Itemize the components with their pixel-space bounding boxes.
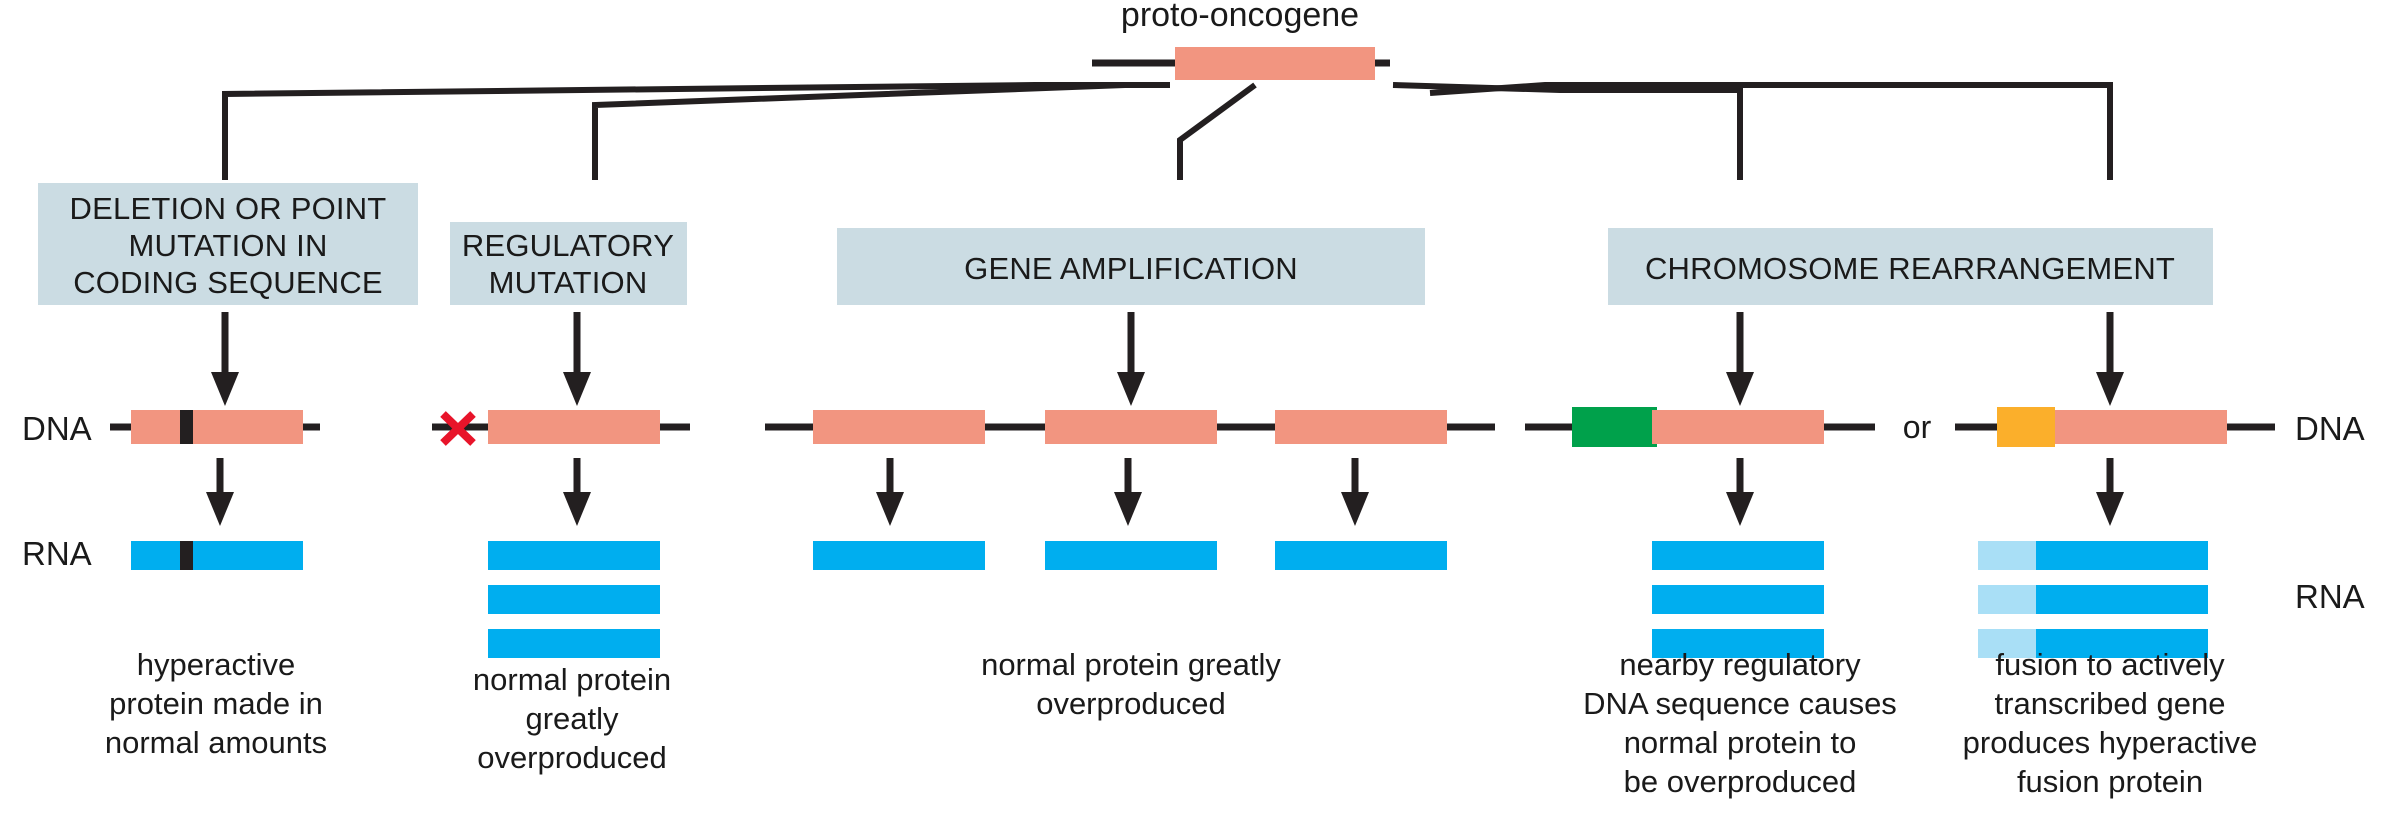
caption-line-1: fusion to actively <box>1995 647 2225 682</box>
rna-transcript-bar <box>1652 541 1824 570</box>
arrow-down-deletion <box>211 312 239 406</box>
caption-line-2: greatly <box>525 701 619 736</box>
pathway-label-deletion[interactable]: DELETION OR POINT MUTATION IN CODING SEQ… <box>38 183 418 305</box>
arrow-rearrangement-a-dna-to-rna <box>1726 458 1754 526</box>
caption-line-2: transcribed gene <box>1995 686 2226 721</box>
pathway-label-line-1: DELETION OR POINT <box>70 191 387 226</box>
deletion-rna-row <box>131 541 303 570</box>
rna-transcript-bar <box>488 541 660 570</box>
pathway-label-line-1: CHROMOSOME REARRANGEMENT <box>1645 251 2175 286</box>
caption-line-3: normal amounts <box>105 725 327 760</box>
caption-line-2: protein made in <box>109 686 323 721</box>
rearrangement-a-dna-row <box>1525 407 1875 447</box>
arrow-rearrangement-b-dna-to-rna <box>2096 458 2124 526</box>
rearrangement-a-caption: nearby regulatory DNA sequence causes no… <box>1583 647 1897 799</box>
pathway-label-line-2: MUTATION <box>489 265 648 300</box>
gene-box-salmon <box>131 410 303 444</box>
rna-transcript-bar <box>1652 585 1824 614</box>
point-mutation-marker <box>180 410 193 444</box>
dna-row-label-left: DNA <box>22 410 92 447</box>
rna-transcript-bar <box>813 541 985 570</box>
top-proto-oncogene-dna <box>1092 47 1390 80</box>
rearrangement-b-caption: fusion to actively transcribed gene prod… <box>1963 647 2258 799</box>
caption-line-1: nearby regulatory <box>1619 647 1861 682</box>
deletion-caption: hyperactive protein made in normal amoun… <box>105 647 327 760</box>
pathway-label-line-3: CODING SEQUENCE <box>73 265 383 300</box>
rna-transcript-bar <box>488 585 660 614</box>
amplification-dna-row <box>765 410 1495 444</box>
arrow-down-rearrangement-a <box>1726 312 1754 406</box>
rearrangement-a-rna-stack <box>1652 541 1824 658</box>
rna-transcript-bar <box>1045 541 1217 570</box>
label-to-dna-arrows <box>211 312 2124 406</box>
caption-line-1: hyperactive <box>137 647 296 682</box>
pathway-label-rearrangement[interactable]: CHROMOSOME REARRANGEMENT <box>1608 228 2213 305</box>
caption-line-1: normal protein greatly <box>981 647 1281 682</box>
caption-line-2: overproduced <box>1036 686 1226 721</box>
arrow-down-regulatory <box>563 312 591 406</box>
proto-oncogene-activation-diagram: proto-oncogene DELETION OR POINT MUTATIO… <box>0 0 2383 831</box>
arrow-copy-1 <box>876 458 904 526</box>
caption-line-2: DNA sequence causes <box>1583 686 1897 721</box>
gene-box-salmon-copy-3 <box>1275 410 1447 444</box>
rna-row-label-left: RNA <box>22 535 92 572</box>
arrow-down-rearrangement-b <box>2096 312 2124 406</box>
rna-fusion-segment-light <box>1978 585 2036 614</box>
point-mutation-marker <box>180 541 193 570</box>
regulatory-dna-row <box>432 410 690 444</box>
connector-to-rearrangement-a <box>1393 85 1740 180</box>
rna-transcript-bar <box>1275 541 1447 570</box>
fusion-partner-orange-box <box>1997 407 2055 447</box>
pathway-label-line-1: REGULATORY <box>462 228 674 263</box>
gene-box-salmon-copy-2 <box>1045 410 1217 444</box>
rna-fusion-segment-light <box>1978 541 2036 570</box>
fusion-rna-transcript-1 <box>1978 541 2208 570</box>
amplification-arrows <box>876 458 1369 526</box>
amplification-caption: normal protein greatly overproduced <box>981 647 1281 721</box>
rna-transcript-bar <box>2036 541 2208 570</box>
arrow-regulatory-dna-to-rna <box>563 458 591 526</box>
caption-line-3: normal protein to <box>1624 725 1857 760</box>
gene-box-salmon-copy-1 <box>813 410 985 444</box>
regulatory-caption: normal protein greatly overproduced <box>473 662 671 775</box>
arrow-down-amplification <box>1117 312 1145 406</box>
pathway-label-line-1: GENE AMPLIFICATION <box>964 251 1298 286</box>
amplification-rna-row <box>813 541 1447 570</box>
rearrangement-b-rna-stack <box>1978 541 2208 658</box>
gene-box-salmon <box>1175 47 1375 80</box>
connector-to-amplification <box>1180 85 1255 180</box>
rna-transcript-bar <box>488 629 660 658</box>
or-connector-label: or <box>1903 409 1932 445</box>
connector-to-regulatory <box>595 85 1170 180</box>
gene-box-salmon <box>1652 410 1824 444</box>
pathway-label-line-2: MUTATION IN <box>128 228 327 263</box>
deletion-dna-row <box>110 410 320 444</box>
caption-line-4: fusion protein <box>2017 764 2203 799</box>
pathway-label-amplification[interactable]: GENE AMPLIFICATION <box>837 228 1425 305</box>
arrow-copy-2 <box>1114 458 1142 526</box>
fusion-rna-transcript-2 <box>1978 585 2208 614</box>
pathway-label-regulatory[interactable]: REGULATORY MUTATION <box>450 222 687 305</box>
rearrangement-b-dna-row <box>1955 407 2275 447</box>
arrow-copy-3 <box>1341 458 1369 526</box>
diagram-canvas: proto-oncogene DELETION OR POINT MUTATIO… <box>0 0 2383 831</box>
caption-line-1: normal protein <box>473 662 671 697</box>
gene-box-salmon <box>2055 410 2227 444</box>
gene-box-salmon <box>488 410 660 444</box>
rna-row-label-right: RNA <box>2295 578 2365 615</box>
regulatory-sequence-green-box <box>1572 407 1657 447</box>
page-title: proto-oncogene <box>1121 0 1359 34</box>
caption-line-3: overproduced <box>477 740 667 775</box>
connector-lines-group <box>225 85 2110 180</box>
rna-transcript-bar <box>131 541 303 570</box>
arrow-deletion-dna-to-rna <box>206 458 234 526</box>
regulatory-rna-stack <box>488 541 660 658</box>
rna-transcript-bar <box>2036 585 2208 614</box>
dna-row-label-right: DNA <box>2295 410 2365 447</box>
caption-line-3: produces hyperactive <box>1963 725 2258 760</box>
caption-line-4: be overproduced <box>1624 764 1857 799</box>
connector-to-rearrangement-b <box>1430 85 2110 180</box>
